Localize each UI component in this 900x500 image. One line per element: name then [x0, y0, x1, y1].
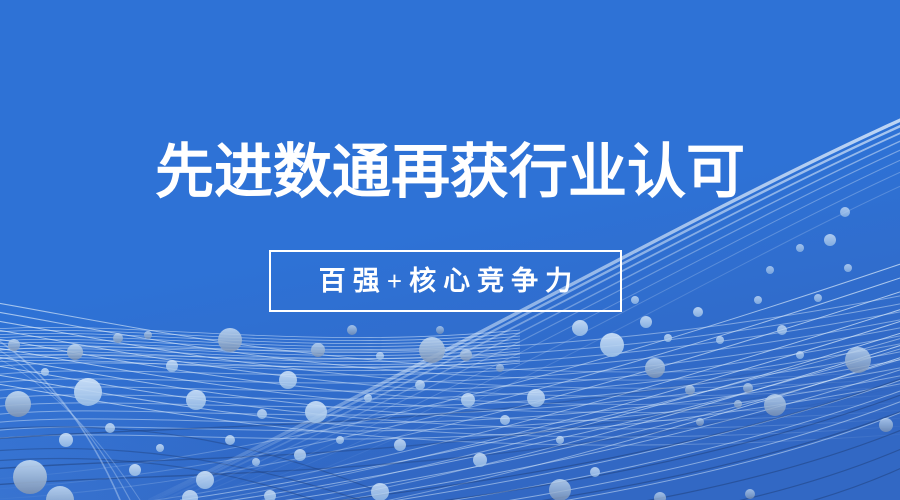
page-title: 先进数通再获行业认可 [0, 136, 900, 208]
subtitle-badge-label: 百强+核心竞争力 [312, 266, 579, 296]
promo-banner: 先进数通再获行业认可 百强+核心竞争力 [0, 0, 900, 500]
banner-content: 先进数通再获行业认可 百强+核心竞争力 [0, 0, 900, 500]
subtitle-badge: 百强+核心竞争力 [269, 250, 622, 312]
